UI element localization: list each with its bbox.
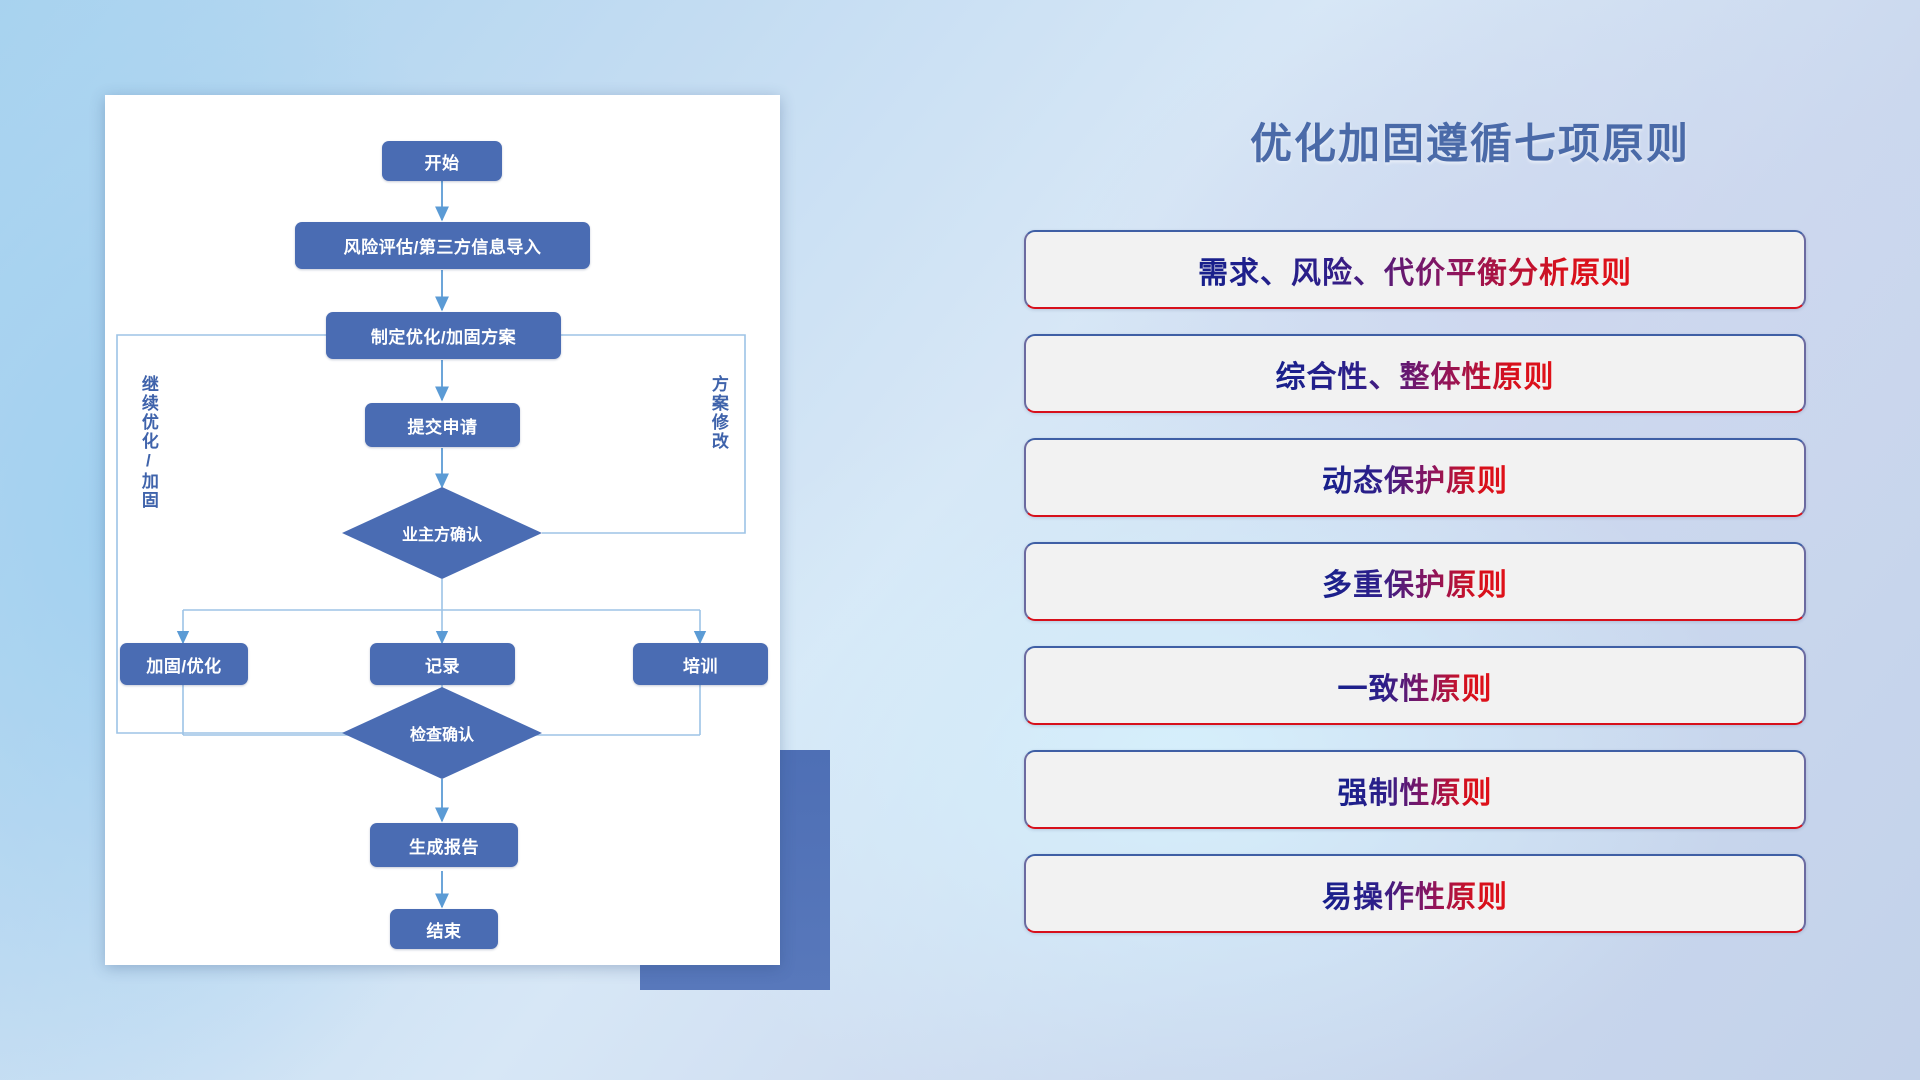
principle-label: 需求、风险、代价平衡分析原则 xyxy=(1198,248,1632,292)
flow-node-record[interactable]: 记录 xyxy=(370,643,515,685)
flow-node-label: 提交申请 xyxy=(408,413,478,438)
flow-node-end[interactable]: 结束 xyxy=(390,909,498,949)
principle-item-1[interactable]: 需求、风险、代价平衡分析原则 xyxy=(1024,230,1806,309)
principle-item-3[interactable]: 动态保护原则 xyxy=(1024,438,1806,517)
principle-item-2[interactable]: 综合性、整体性原则 xyxy=(1024,334,1806,413)
principles-list: 需求、风险、代价平衡分析原则 综合性、整体性原则 动态保护原则 多重保护原则 一… xyxy=(1024,230,1806,958)
principle-item-6[interactable]: 强制性原则 xyxy=(1024,750,1806,829)
flow-node-label: 开始 xyxy=(425,149,460,174)
flow-node-label: 生成报告 xyxy=(409,833,479,858)
principle-label: 一致性原则 xyxy=(1338,664,1493,708)
flow-node-label: 风险评估/第三方信息导入 xyxy=(344,233,542,258)
flow-node-submit-application[interactable]: 提交申请 xyxy=(365,403,520,447)
principle-item-5[interactable]: 一致性原则 xyxy=(1024,646,1806,725)
principle-label: 综合性、整体性原则 xyxy=(1276,352,1555,396)
principle-label: 多重保护原则 xyxy=(1322,560,1508,604)
flow-node-label: 制定优化/加固方案 xyxy=(371,323,516,348)
flow-edge-label-plan-revision: 方案修改 xyxy=(709,375,727,451)
flow-node-training[interactable]: 培训 xyxy=(633,643,768,685)
flow-node-label: 加固/优化 xyxy=(146,652,221,677)
flowchart-card: 开始 风险评估/第三方信息导入 制定优化/加固方案 提交申请 业主方确认 加固/… xyxy=(105,95,780,965)
slide-root: 开始 风险评估/第三方信息导入 制定优化/加固方案 提交申请 业主方确认 加固/… xyxy=(0,0,1920,1080)
flow-node-risk-assessment[interactable]: 风险评估/第三方信息导入 xyxy=(295,222,590,269)
flow-node-label: 培训 xyxy=(683,652,718,677)
flow-node-label: 检查确认 xyxy=(410,721,474,745)
flow-edge-label-continue-optimize: 继续优化/加固 xyxy=(139,375,157,510)
principle-item-4[interactable]: 多重保护原则 xyxy=(1024,542,1806,621)
principle-label: 强制性原则 xyxy=(1338,768,1493,812)
principle-label: 易操作性原则 xyxy=(1322,872,1508,916)
principle-item-7[interactable]: 易操作性原则 xyxy=(1024,854,1806,933)
flow-node-plan[interactable]: 制定优化/加固方案 xyxy=(326,312,561,359)
flow-node-label: 结束 xyxy=(427,917,462,942)
flow-node-label: 业主方确认 xyxy=(402,521,482,545)
flow-node-label: 记录 xyxy=(425,652,460,677)
principle-label: 动态保护原则 xyxy=(1322,456,1508,500)
panel-title: 优化加固遵循七项原则 xyxy=(1150,110,1790,171)
flow-node-reinforce-optimize[interactable]: 加固/优化 xyxy=(120,643,248,685)
flow-node-generate-report[interactable]: 生成报告 xyxy=(370,823,518,867)
flow-node-start[interactable]: 开始 xyxy=(382,141,502,181)
